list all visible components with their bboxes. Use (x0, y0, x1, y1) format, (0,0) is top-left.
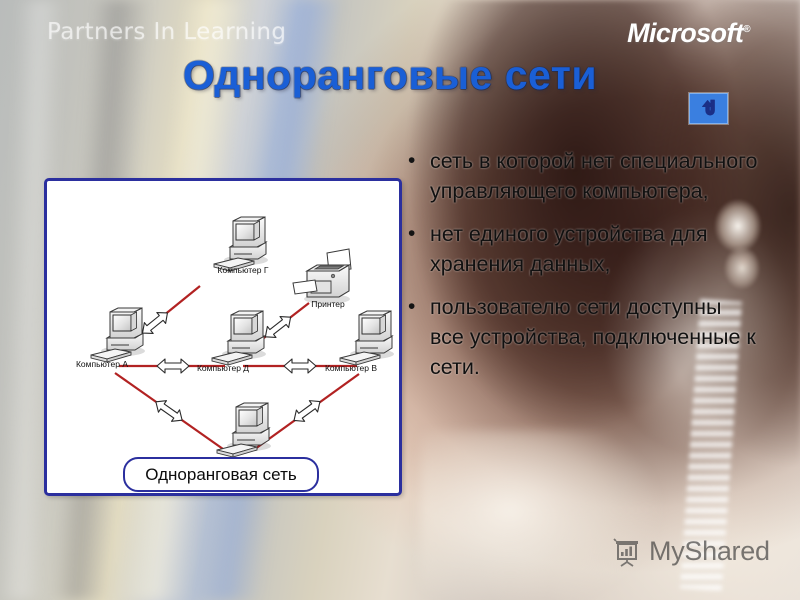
list-item: • пользователю сети доступны все устройс… (408, 292, 760, 382)
computer-node-g (214, 217, 268, 271)
node-label-g: Компьютер Г (195, 265, 291, 275)
bullet-text: нет единого устройства для хранения данн… (430, 219, 760, 279)
diagram-caption-text: Одноранговая сеть (145, 465, 296, 485)
computer-node-b (217, 403, 271, 457)
network-diagram-graphic (47, 181, 399, 493)
diagram-caption-box: Одноранговая сеть (123, 457, 319, 492)
network-diagram-panel: Компьютер А Компьютер Г Компьютер Д Комп… (44, 178, 402, 496)
computer-node-a (91, 308, 145, 362)
bullet-marker-icon: • (408, 219, 430, 249)
list-item: • нет единого устройства для хранения да… (408, 219, 760, 279)
u-turn-arrow-icon (699, 98, 719, 119)
node-label-d: Компьютер Д (175, 363, 271, 373)
presentation-board-icon (612, 537, 642, 567)
microsoft-wordmark: Microsoft (627, 18, 743, 48)
arrow-b-v (290, 396, 324, 426)
myshared-label: MyShared (649, 536, 770, 567)
node-label-printer: Принтер (295, 299, 361, 309)
computer-node-d (212, 311, 266, 365)
list-item: • сеть в которой нет специального управл… (408, 146, 760, 206)
node-label-a: Компьютер А (55, 359, 149, 369)
printer-node (293, 249, 351, 304)
slide-canvas: Partners In Learning Microsoft® Одноранг… (0, 0, 800, 600)
return-button[interactable] (689, 93, 728, 124)
bullet-list: • сеть в которой нет специального управл… (408, 146, 760, 395)
bullet-text: сеть в которой нет специального управляю… (430, 146, 760, 206)
node-label-v: Компьютер В (303, 363, 399, 373)
arrow-a-b (152, 396, 186, 426)
arrow-d-printer (261, 312, 295, 343)
myshared-watermark: MyShared (612, 536, 770, 567)
registered-trademark-icon: ® (743, 24, 750, 35)
bullet-marker-icon: • (408, 146, 430, 176)
background-shoulder (420, 430, 720, 600)
bullet-text: пользователю сети доступны все устройств… (430, 292, 760, 382)
bullet-marker-icon: • (408, 292, 430, 322)
page-title: Одноранговые сети (0, 52, 800, 99)
partners-in-learning-label: Partners In Learning (47, 19, 286, 45)
computer-node-v (340, 311, 394, 365)
microsoft-logo: Microsoft® (627, 18, 750, 49)
